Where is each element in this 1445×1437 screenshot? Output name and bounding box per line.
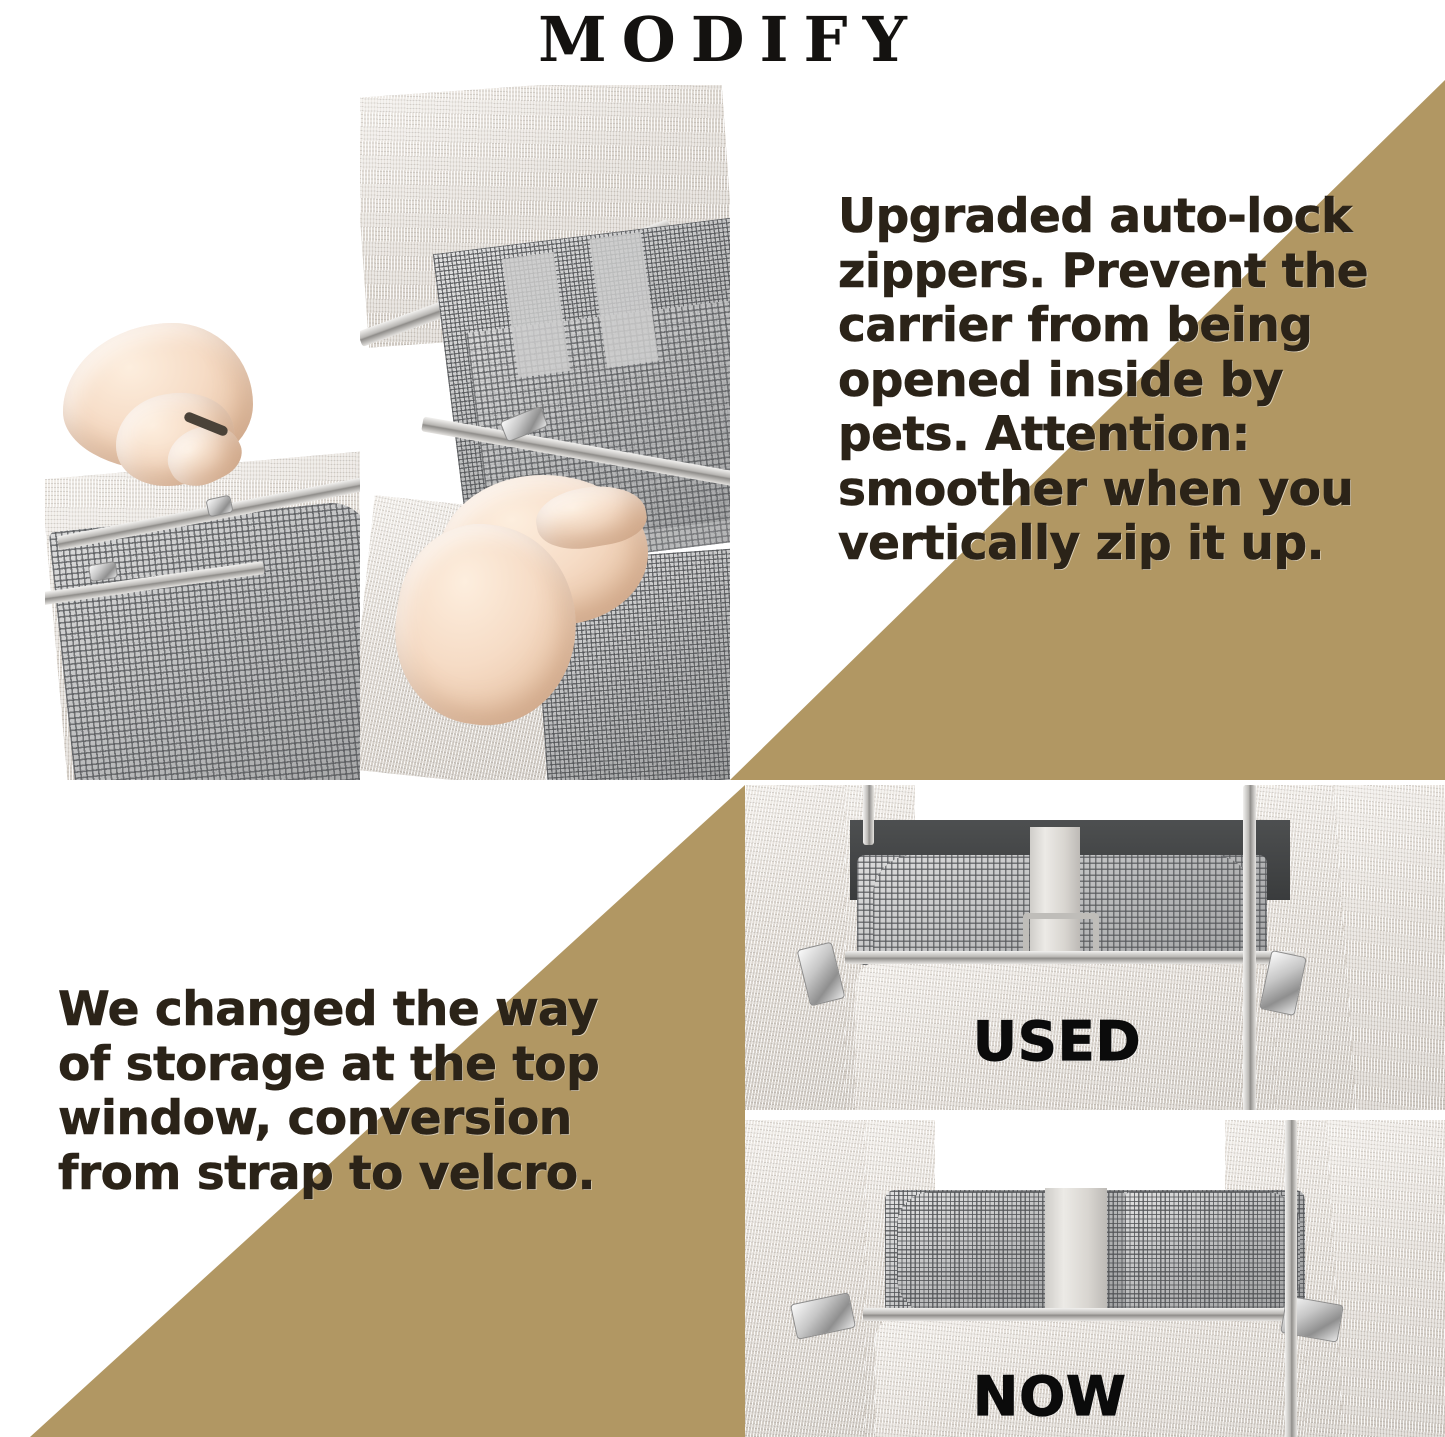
poster-canvas: MODIFY — [0, 0, 1445, 1437]
auto-lock-zipper-text: Upgraded auto-lock zippers. Prevent the … — [838, 190, 1430, 572]
photo-hand-gripping-zipper — [360, 85, 730, 780]
stamp-label-used: USED — [973, 1015, 1141, 1069]
photo-hand-pulling-zipper — [45, 315, 363, 780]
stamp-label-now: NOW — [973, 1370, 1127, 1424]
top-left-photo-panel — [0, 80, 745, 780]
velcro-band — [1045, 1188, 1107, 1318]
bottom-right-photo-panel: USED NOW — [745, 785, 1445, 1437]
page-title: MODIFY — [0, 0, 1445, 80]
storage-change-text: We changed the way of storage at the top… — [58, 983, 664, 1201]
photo-now-velcro-storage: NOW — [745, 1120, 1445, 1437]
top-right-copy-panel: Upgraded auto-lock zippers. Prevent the … — [700, 80, 1445, 780]
bottom-left-copy-panel: We changed the way of storage at the top… — [0, 785, 745, 1437]
photo-used-strap-storage: USED — [745, 785, 1445, 1110]
